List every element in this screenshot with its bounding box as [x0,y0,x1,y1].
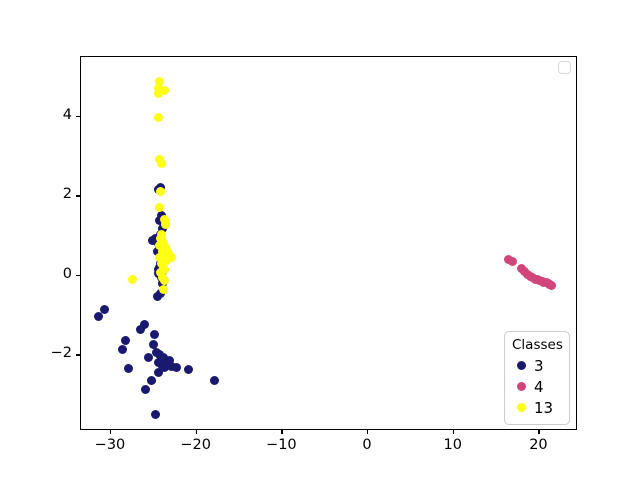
legend-marker-icon [517,403,526,412]
scatter-point-class-13 [156,187,165,196]
scatter-point-class-13 [160,86,169,95]
scatter-point-class-3 [100,305,109,314]
y-axis-tick-label: −2 [14,345,72,362]
y-axis-tick-label: 0 [14,266,72,283]
y-axis-tick [76,275,80,276]
scatter-point-class-3 [150,330,159,339]
legend-title: Classes [512,337,562,353]
x-axis-tick-label: 10 [423,437,483,454]
scatter-plot-axes [80,56,577,430]
y-axis-tick-label: 2 [14,186,72,203]
empty-legend-box [558,61,571,74]
scatter-point-class-3 [147,376,156,385]
scatter-point-class-3 [172,363,181,372]
scatter-point-class-3 [154,368,163,377]
legend-item-label: 4 [534,378,544,396]
scatter-point-class-4 [547,281,556,290]
legend-item-label: 13 [534,399,553,417]
scatter-point-class-3 [124,364,133,373]
scatter-point-class-3 [210,376,219,385]
scatter-point-class-13 [128,275,137,284]
y-axis-tick-label: 4 [14,107,72,124]
y-axis-tick [76,354,80,355]
x-axis-tick [281,430,282,434]
x-axis-tick [538,430,539,434]
scatter-point-class-3 [151,410,160,419]
y-axis-tick [76,195,80,196]
scatter-point-class-13 [161,220,170,229]
scatter-point-class-3 [121,336,130,345]
x-axis-tick-label: 20 [508,437,568,454]
legend[interactable]: Classes 3413 [504,331,570,425]
scatter-point-class-13 [157,230,166,239]
legend-item-label: 3 [534,357,544,375]
scatter-point-class-3 [184,365,193,374]
x-axis-tick-label: −10 [251,437,311,454]
x-axis-tick [367,430,368,434]
y-axis-tick [76,116,80,117]
legend-item-4[interactable]: 4 [512,376,562,397]
scatter-point-class-3 [118,345,127,354]
x-axis-tick [110,430,111,434]
scatter-point-class-13 [157,159,166,168]
legend-item-13[interactable]: 13 [512,397,562,418]
x-axis-tick-label: −30 [80,437,140,454]
scatter-point-class-4 [508,257,517,266]
x-axis-tick [196,430,197,434]
legend-marker-icon [517,382,526,391]
x-axis-tick [453,430,454,434]
x-axis-tick-label: 0 [337,437,397,454]
figure-canvas: Classes 3413 −30−20−1001020420−2 [0,0,640,480]
scatter-point-class-3 [141,385,150,394]
scatter-point-class-13 [160,276,169,285]
scatter-point-class-13 [159,285,168,294]
x-axis-tick-label: −20 [166,437,226,454]
legend-entries: 3413 [512,355,562,418]
legend-item-3[interactable]: 3 [512,355,562,376]
legend-marker-icon [517,361,526,370]
scatter-point-class-13 [154,113,163,122]
scatter-point-class-3 [140,320,149,329]
